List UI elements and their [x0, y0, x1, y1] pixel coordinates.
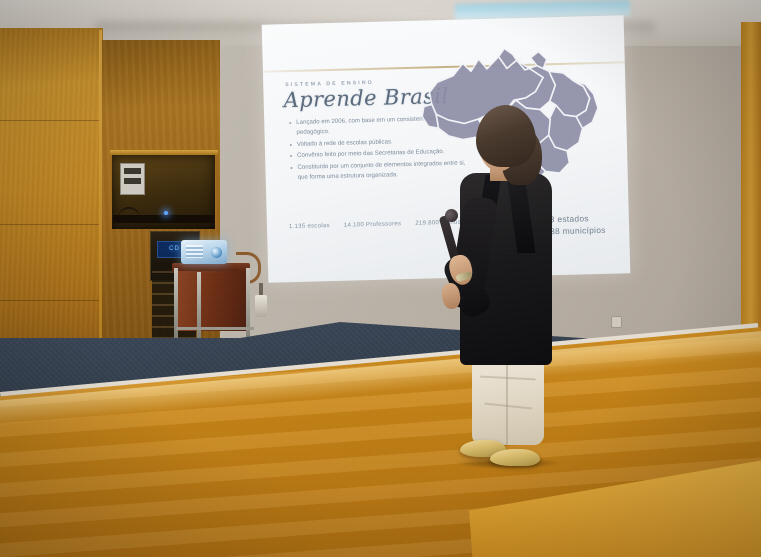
- projector-vent: [186, 245, 203, 258]
- speaker-shoe-right: [490, 449, 540, 466]
- stat-escolas: 1.135 escolas: [289, 223, 330, 230]
- projector[interactable]: [181, 240, 227, 264]
- wood-grain: [0, 28, 103, 358]
- wall-outlet: [611, 316, 622, 328]
- presentation-photo: CD SISTEMA DE ENSINO Aprende Brasil Lan: [0, 0, 761, 557]
- trouser-seam: [506, 357, 508, 445]
- wood-panel-corner: [99, 30, 102, 360]
- speaker-hair: [476, 105, 536, 167]
- wood-wall-panel-left: [0, 28, 103, 358]
- wall-control-panel[interactable]: [120, 163, 145, 195]
- projector-lens-icon: [211, 247, 222, 258]
- speaker: [432, 105, 572, 480]
- stat-professores: 14.100 Professores: [344, 221, 402, 229]
- led-indicator-icon: [164, 211, 168, 215]
- av-cart: [176, 271, 246, 331]
- cart-crossbar: [176, 327, 254, 330]
